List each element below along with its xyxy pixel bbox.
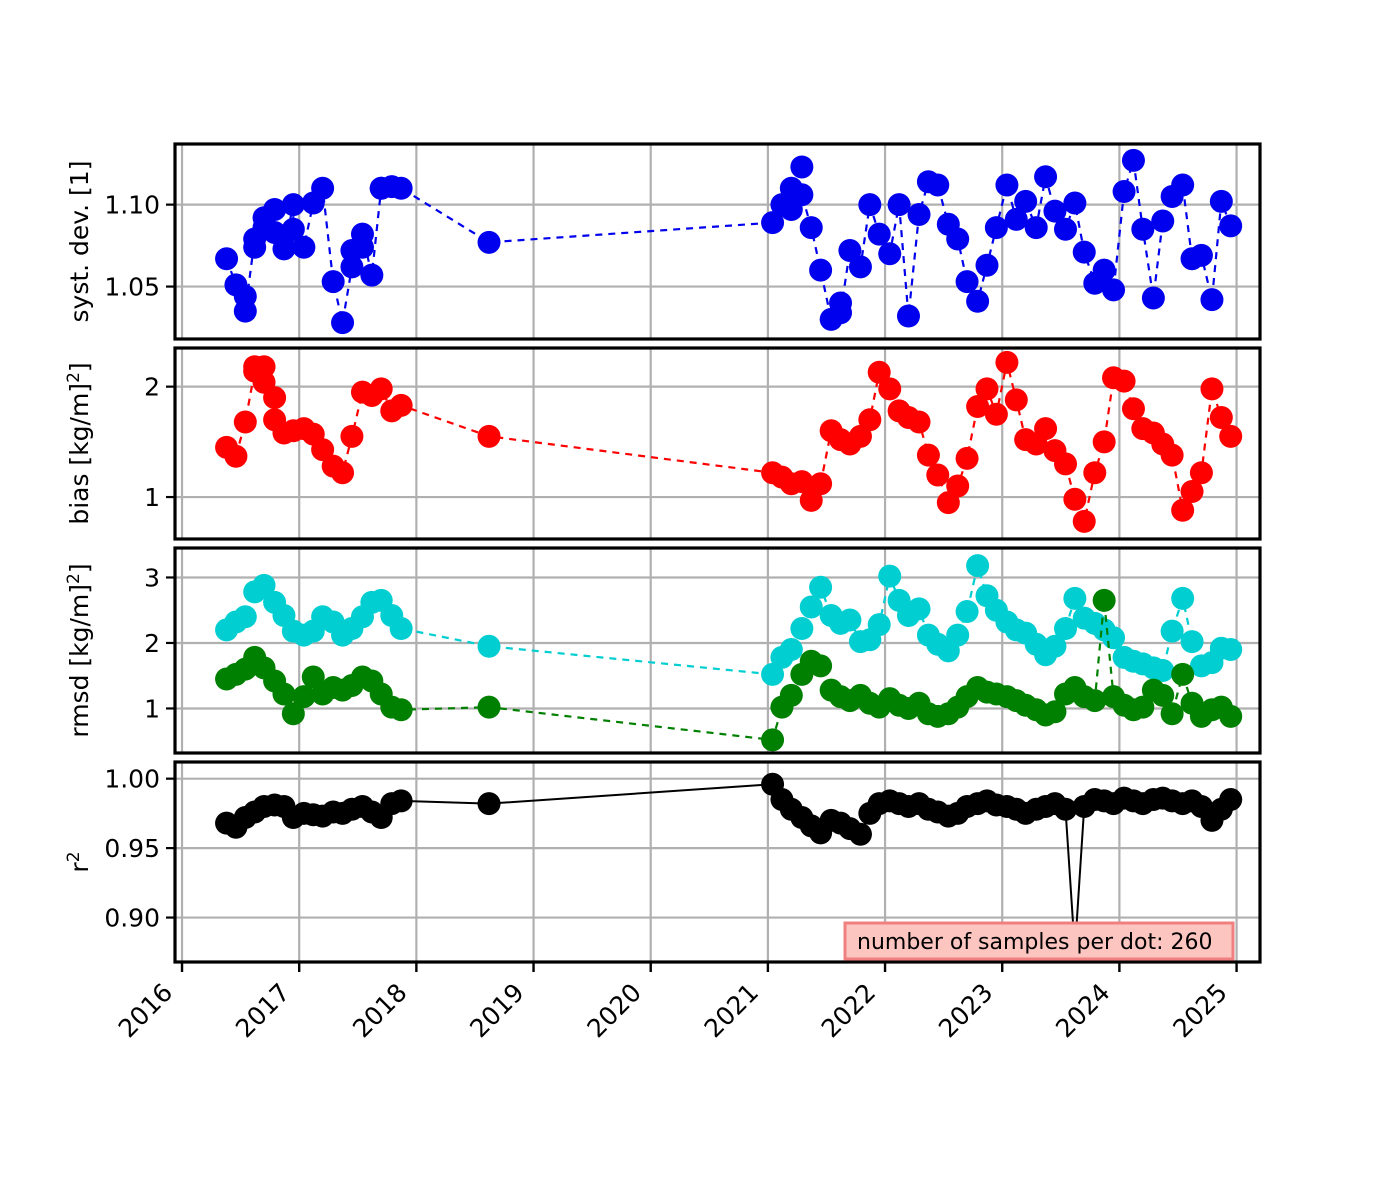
data-point-bias-0	[975, 377, 998, 400]
xtick-label-2025: 2025	[1167, 978, 1232, 1043]
data-point-bias-0	[1190, 461, 1213, 484]
data-point-syst-dev-0	[908, 203, 931, 226]
ytick-label-r2-2: 1.00	[104, 765, 160, 794]
data-point-bias-0	[809, 472, 832, 495]
data-point-syst-dev-0	[878, 242, 901, 265]
data-point-bias-0	[995, 351, 1018, 374]
data-point-rmsd-1	[478, 696, 501, 719]
xtick-label-2016: 2016	[113, 978, 178, 1043]
data-point-bias-0	[478, 425, 501, 448]
data-point-bias-0	[1122, 397, 1145, 420]
data-point-rmsd-0	[1063, 587, 1086, 610]
data-point-bias-0	[1161, 444, 1184, 467]
data-point-rmsd-0	[908, 597, 931, 620]
data-point-rmsd-1	[809, 654, 832, 677]
data-point-syst-dev-0	[282, 193, 305, 216]
data-point-syst-dev-0	[390, 177, 413, 200]
data-point-syst-dev-0	[800, 216, 823, 239]
data-point-syst-dev-0	[1014, 190, 1037, 213]
ylabel-bias: bias [kg/m]2]	[64, 362, 94, 524]
data-point-r2-0	[478, 792, 501, 815]
data-point-syst-dev-0	[829, 301, 852, 324]
data-point-bias-0	[926, 463, 949, 486]
annotation-text: number of samples per dot: 260	[857, 930, 1212, 955]
data-point-rmsd-0	[780, 638, 803, 661]
xtick-label-2018: 2018	[347, 978, 412, 1043]
data-point-rmsd-1	[1219, 705, 1242, 728]
data-point-bias-0	[263, 386, 286, 409]
data-point-syst-dev-0	[995, 173, 1018, 196]
data-point-bias-0	[340, 425, 363, 448]
data-point-rmsd-0	[1181, 630, 1204, 653]
data-point-bias-0	[917, 444, 940, 467]
data-point-syst-dev-0	[790, 183, 813, 206]
data-point-rmsd-1	[272, 683, 295, 706]
data-point-syst-dev-0	[331, 311, 354, 334]
data-point-rmsd-0	[966, 554, 989, 577]
data-point-syst-dev-0	[1102, 278, 1125, 301]
data-point-bias-0	[224, 445, 247, 468]
data-point-bias-0	[878, 377, 901, 400]
data-point-rmsd-0	[809, 576, 832, 599]
panel-background-rmsd	[175, 548, 1260, 753]
data-point-bias-0	[1093, 430, 1116, 453]
data-point-rmsd-1	[390, 698, 413, 721]
data-point-syst-dev-0	[351, 223, 374, 246]
data-point-bias-0	[390, 394, 413, 417]
data-point-syst-dev-0	[478, 231, 501, 254]
data-point-r2-0	[390, 789, 413, 812]
figure-canvas: 1.051.10syst. dev. [1]12bias [kg/m]2]123…	[0, 0, 1400, 1200]
data-point-syst-dev-0	[311, 177, 334, 200]
data-point-rmsd-0	[1161, 620, 1184, 643]
data-point-syst-dev-0	[322, 270, 345, 293]
data-point-syst-dev-0	[1219, 214, 1242, 237]
data-point-syst-dev-0	[1200, 288, 1223, 311]
data-point-rmsd-1	[1093, 589, 1116, 612]
ylabel-syst-dev: syst. dev. [1]	[65, 161, 94, 323]
data-point-bias-0	[946, 475, 969, 498]
data-point-rmsd-0	[234, 605, 257, 628]
data-point-rmsd-1	[1161, 702, 1184, 725]
data-point-rmsd-0	[1171, 587, 1194, 610]
ylabel-rmsd: rmsd [kg/m]2]	[64, 563, 94, 737]
ytick-label-bias-0: 1	[144, 483, 160, 512]
data-point-syst-dev-0	[946, 228, 969, 251]
data-point-r2-0	[1219, 788, 1242, 811]
data-point-bias-0	[956, 447, 979, 470]
data-point-syst-dev-0	[790, 155, 813, 178]
data-point-rmsd-0	[1219, 638, 1242, 661]
ytick-label-r2-1: 0.95	[104, 834, 160, 863]
data-point-r2-0	[849, 823, 872, 846]
data-point-syst-dev-0	[1142, 287, 1165, 310]
ytick-label-syst-dev-0: 1.05	[104, 273, 160, 302]
xtick-label-2023: 2023	[933, 978, 998, 1043]
data-point-syst-dev-0	[1025, 216, 1048, 239]
data-point-bias-0	[1073, 510, 1096, 533]
data-point-syst-dev-0	[1131, 218, 1154, 241]
data-point-syst-dev-0	[1151, 210, 1174, 233]
annotation-samples-per-dot: number of samples per dot: 260	[845, 923, 1233, 959]
data-point-rmsd-0	[800, 595, 823, 618]
data-point-rmsd-0	[956, 600, 979, 623]
data-point-syst-dev-0	[975, 254, 998, 277]
data-point-rmsd-0	[878, 565, 901, 588]
data-point-syst-dev-0	[1093, 259, 1116, 282]
data-point-bias-0	[1113, 370, 1136, 393]
data-point-syst-dev-0	[1171, 173, 1194, 196]
ylabel-r2: r2	[64, 851, 94, 872]
ytick-label-syst-dev-1: 1.10	[104, 191, 160, 220]
data-point-bias-0	[1219, 425, 1242, 448]
ytick-label-rmsd-2: 3	[144, 563, 160, 592]
data-point-syst-dev-0	[1190, 244, 1213, 267]
data-point-syst-dev-0	[1122, 149, 1145, 172]
data-point-syst-dev-0	[1210, 190, 1233, 213]
data-point-rmsd-0	[1102, 626, 1125, 649]
data-point-rmsd-0	[790, 617, 813, 640]
xtick-label-2019: 2019	[464, 978, 529, 1043]
data-point-bias-0	[1200, 377, 1223, 400]
data-point-rmsd-1	[761, 728, 784, 751]
data-point-syst-dev-0	[243, 236, 266, 259]
data-point-syst-dev-0	[809, 259, 832, 282]
data-point-syst-dev-0	[966, 290, 989, 313]
xtick-label-2024: 2024	[1050, 978, 1115, 1043]
data-point-syst-dev-0	[849, 255, 872, 278]
data-point-syst-dev-0	[1034, 165, 1057, 188]
data-point-syst-dev-0	[868, 223, 891, 246]
data-point-rmsd-0	[838, 609, 861, 632]
data-point-syst-dev-0	[1054, 218, 1077, 241]
ytick-label-rmsd-0: 1	[144, 694, 160, 723]
data-point-bias-0	[1054, 452, 1077, 475]
data-point-syst-dev-0	[1073, 241, 1096, 264]
xtick-label-2017: 2017	[230, 978, 295, 1043]
xtick-label-2020: 2020	[581, 978, 646, 1043]
xtick-label-2022: 2022	[816, 978, 881, 1043]
data-point-rmsd-1	[1171, 663, 1194, 686]
xtick-label-2021: 2021	[699, 978, 764, 1043]
panel-rmsd: 123rmsd [kg/m]2]	[64, 548, 1260, 753]
data-point-syst-dev-0	[215, 247, 238, 270]
ytick-label-bias-1: 2	[144, 373, 160, 402]
data-point-bias-0	[234, 410, 257, 433]
data-point-syst-dev-0	[897, 305, 920, 328]
data-point-syst-dev-0	[1113, 180, 1136, 203]
data-point-syst-dev-0	[985, 216, 1008, 239]
data-point-bias-0	[985, 403, 1008, 426]
panel-bias: 12bias [kg/m]2]	[64, 348, 1260, 539]
panel-syst-dev: 1.051.10syst. dev. [1]	[65, 144, 1260, 339]
data-point-bias-0	[331, 461, 354, 484]
data-point-syst-dev-0	[1063, 191, 1086, 214]
data-point-bias-0	[858, 408, 881, 431]
data-point-bias-0	[1063, 488, 1086, 511]
data-point-bias-0	[370, 377, 393, 400]
data-point-syst-dev-0	[272, 237, 295, 260]
data-point-syst-dev-0	[926, 173, 949, 196]
data-point-rmsd-0	[868, 613, 891, 636]
x-axis: 2016201720182019202020212022202320242025	[113, 962, 1237, 1043]
data-point-rmsd-0	[946, 624, 969, 647]
ytick-label-r2-0: 0.90	[104, 904, 160, 933]
ytick-label-rmsd-1: 2	[144, 629, 160, 658]
data-point-syst-dev-0	[888, 193, 911, 216]
data-point-rmsd-0	[390, 617, 413, 640]
data-point-rmsd-1	[780, 684, 803, 707]
data-point-bias-0	[1034, 417, 1057, 440]
data-point-syst-dev-0	[956, 270, 979, 293]
data-point-syst-dev-0	[292, 236, 315, 259]
multi-panel-timeseries-chart: 1.051.10syst. dev. [1]12bias [kg/m]2]123…	[0, 0, 1400, 1200]
data-point-rmsd-0	[1151, 659, 1174, 682]
data-point-bias-0	[1083, 461, 1106, 484]
panel-background-syst-dev	[175, 144, 1260, 339]
data-point-bias-0	[908, 410, 931, 433]
data-point-syst-dev-0	[234, 300, 257, 323]
data-point-bias-0	[1005, 388, 1028, 411]
data-point-rmsd-0	[478, 635, 501, 658]
data-point-syst-dev-0	[858, 193, 881, 216]
data-point-syst-dev-0	[360, 264, 383, 287]
